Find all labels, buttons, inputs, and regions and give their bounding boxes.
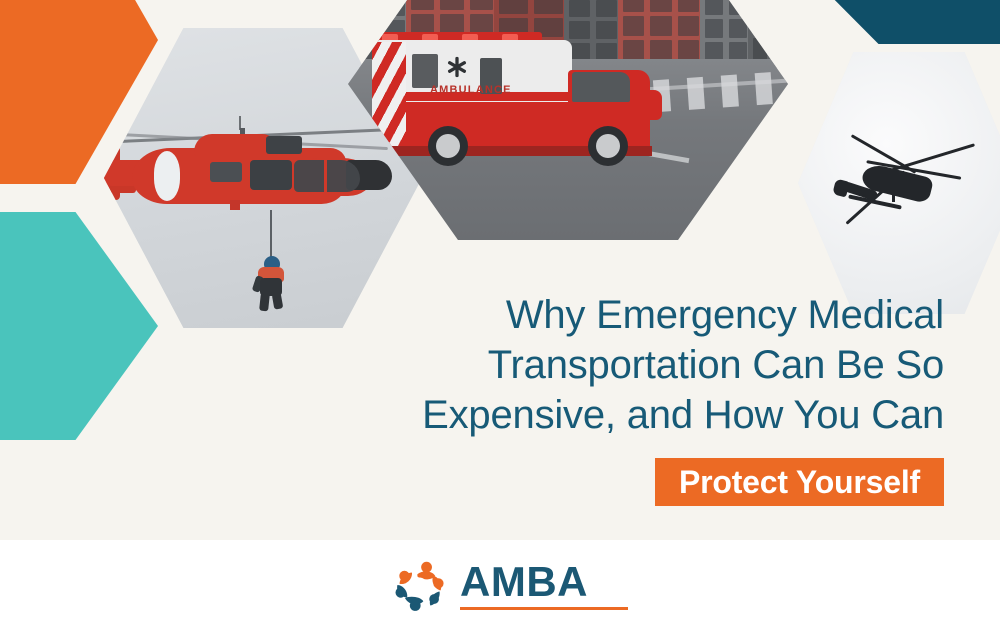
amba-logo[interactable]: AMBA bbox=[392, 558, 628, 612]
hoist-cable bbox=[270, 210, 272, 258]
headline-line-3: Expensive, and How You Can bbox=[360, 390, 944, 440]
ambulance-side-text: AMBULANCE bbox=[430, 84, 512, 96]
footer-bar: AMBA bbox=[0, 540, 1000, 644]
headline-line-1: Why Emergency Medical bbox=[360, 290, 944, 340]
ambulance-vehicle-icon: AMBULANCE bbox=[372, 28, 672, 168]
cta-container: Protect Yourself bbox=[604, 458, 944, 506]
amba-wordmark: AMBA bbox=[460, 560, 628, 604]
rescuer-figure-icon bbox=[252, 256, 292, 310]
star-of-life-icon bbox=[446, 56, 468, 78]
logo-underline bbox=[460, 607, 628, 610]
headline-line-2: Transportation Can Be So bbox=[360, 340, 944, 390]
helicopter-silhouette-icon bbox=[838, 144, 980, 224]
rescue-helicopter-icon bbox=[104, 124, 422, 254]
marketing-banner: AMBULANCE bbox=[0, 0, 1000, 644]
protect-yourself-button[interactable]: Protect Yourself bbox=[655, 458, 944, 506]
headline-block: Why Emergency Medical Transportation Can… bbox=[360, 290, 944, 440]
amba-people-circle-icon bbox=[392, 558, 446, 612]
